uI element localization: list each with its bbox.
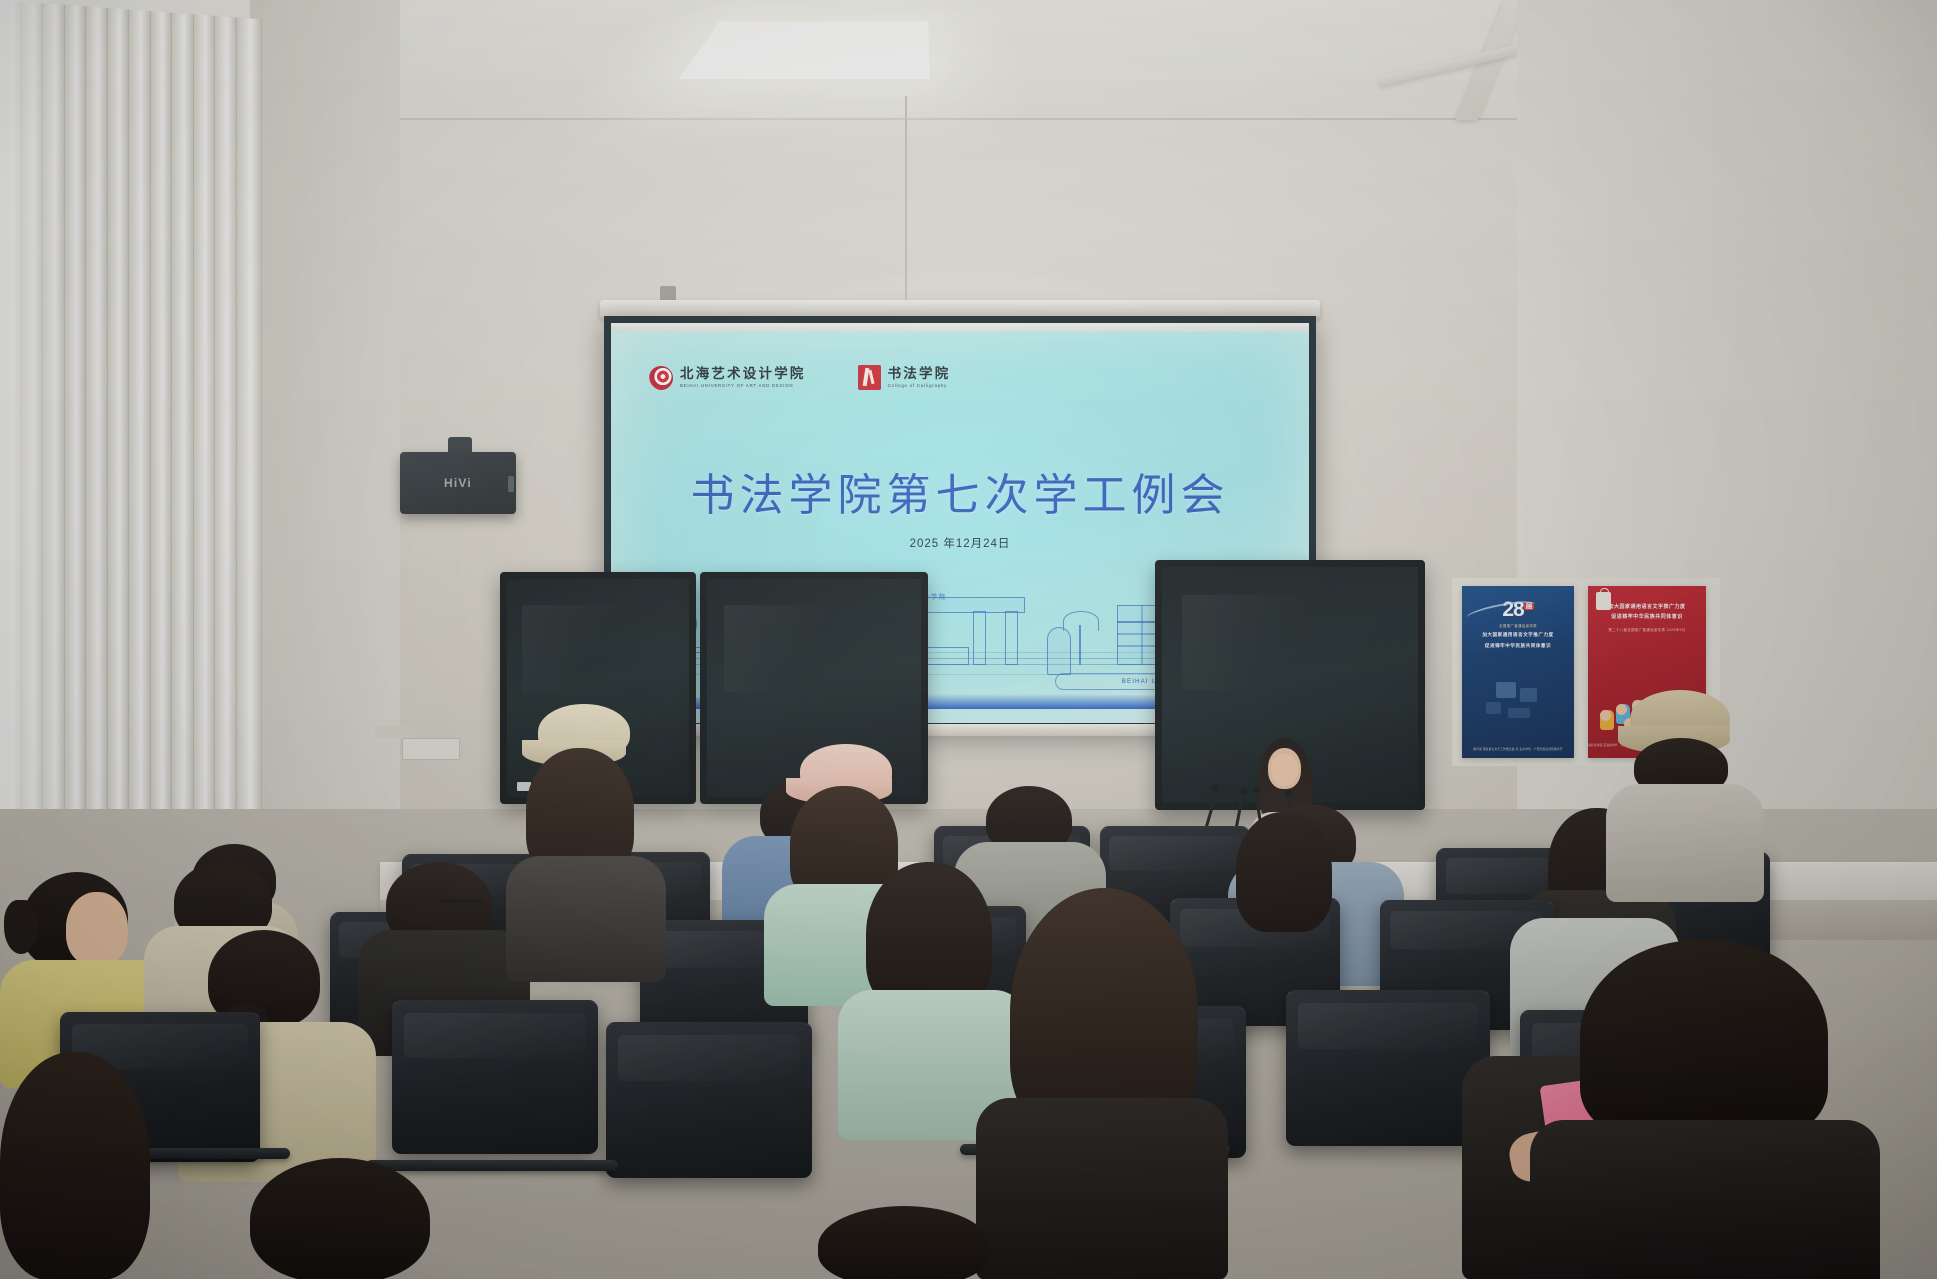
presenter-face (1271, 754, 1298, 786)
palm-tree-right (1063, 611, 1099, 631)
spiral-logo-icon (649, 366, 673, 390)
microphone-head-4 (1285, 790, 1292, 797)
monument-stone (1047, 627, 1071, 675)
microphone-head-1 (1212, 784, 1219, 791)
wall-bracket (375, 726, 415, 738)
poster-blue: 28届 全国推广普通话宣传周 加大国家通用语言文字推广力度 促进铸牢中华民族共同… (1462, 586, 1574, 758)
speaker-brand-label: HiVi (444, 476, 472, 490)
speaker-side-grille (508, 476, 514, 492)
seal-logo-icon (858, 365, 881, 390)
college-logo-en: College of Calligraphy (888, 383, 951, 388)
poster-red-line-2: 促进铸牢中华民族共同体意识 (1594, 614, 1700, 621)
poster-line-2: 促进铸牢中华民族共同体意识 (1468, 643, 1568, 650)
wall-outlet-plate (402, 738, 460, 760)
university-logo-en: BEIHAI UNIVERSITY OF ART AND DESIGN (680, 383, 806, 388)
university-logo: 北海艺术设计学院 BEIHAI UNIVERSITY OF ART AND DE… (649, 366, 806, 390)
classroom-photo-scene: 北海艺术设计学院 BEIHAI UNIVERSITY OF ART AND DE… (0, 0, 1937, 1279)
poster-artwork (1462, 672, 1574, 736)
poster-line-1: 加大国家通用语言文字推广力度 (1468, 632, 1568, 639)
chair-front-5[interactable] (1286, 990, 1490, 1146)
ceiling-light-left (677, 21, 931, 80)
seal-lock-icon (1596, 592, 1611, 610)
poster-footer: 教育部 国家语言文字工作委员会 等 主办单位：广西壮族自治区教育厅 (1462, 748, 1574, 752)
chair-front-3[interactable] (606, 1022, 812, 1178)
gate-pillar-3 (973, 611, 986, 665)
college-logo: 书法学院 College of Calligraphy (858, 365, 951, 390)
microphone-head-3 (1253, 786, 1260, 793)
slide-logo-row: 北海艺术设计学院 BEIHAI UNIVERSITY OF ART AND DE… (649, 365, 950, 390)
poster-subtitle: 全国推广普通话宣传周 (1468, 623, 1568, 628)
window-daylight-glow (0, 0, 70, 900)
slide-title: 书法学院第七次学工例会 (611, 459, 1309, 523)
chair-front-2[interactable] (392, 1000, 598, 1154)
slide-top-band (611, 323, 1309, 332)
armrest-2 (366, 1160, 618, 1171)
poster-red-subtitle: 第二十八届全国推广普通话宣传周 2025年9月 (1594, 627, 1700, 632)
university-logo-cn: 北海艺术设计学院 (680, 367, 806, 381)
wall-speaker: HiVi (400, 452, 516, 514)
college-logo-cn: 书法学院 (888, 367, 951, 381)
microphone-head-2 (1241, 788, 1248, 795)
slide-date: 2025 年12月24日 (611, 535, 1309, 551)
gate-pillar-4 (1005, 611, 1018, 665)
